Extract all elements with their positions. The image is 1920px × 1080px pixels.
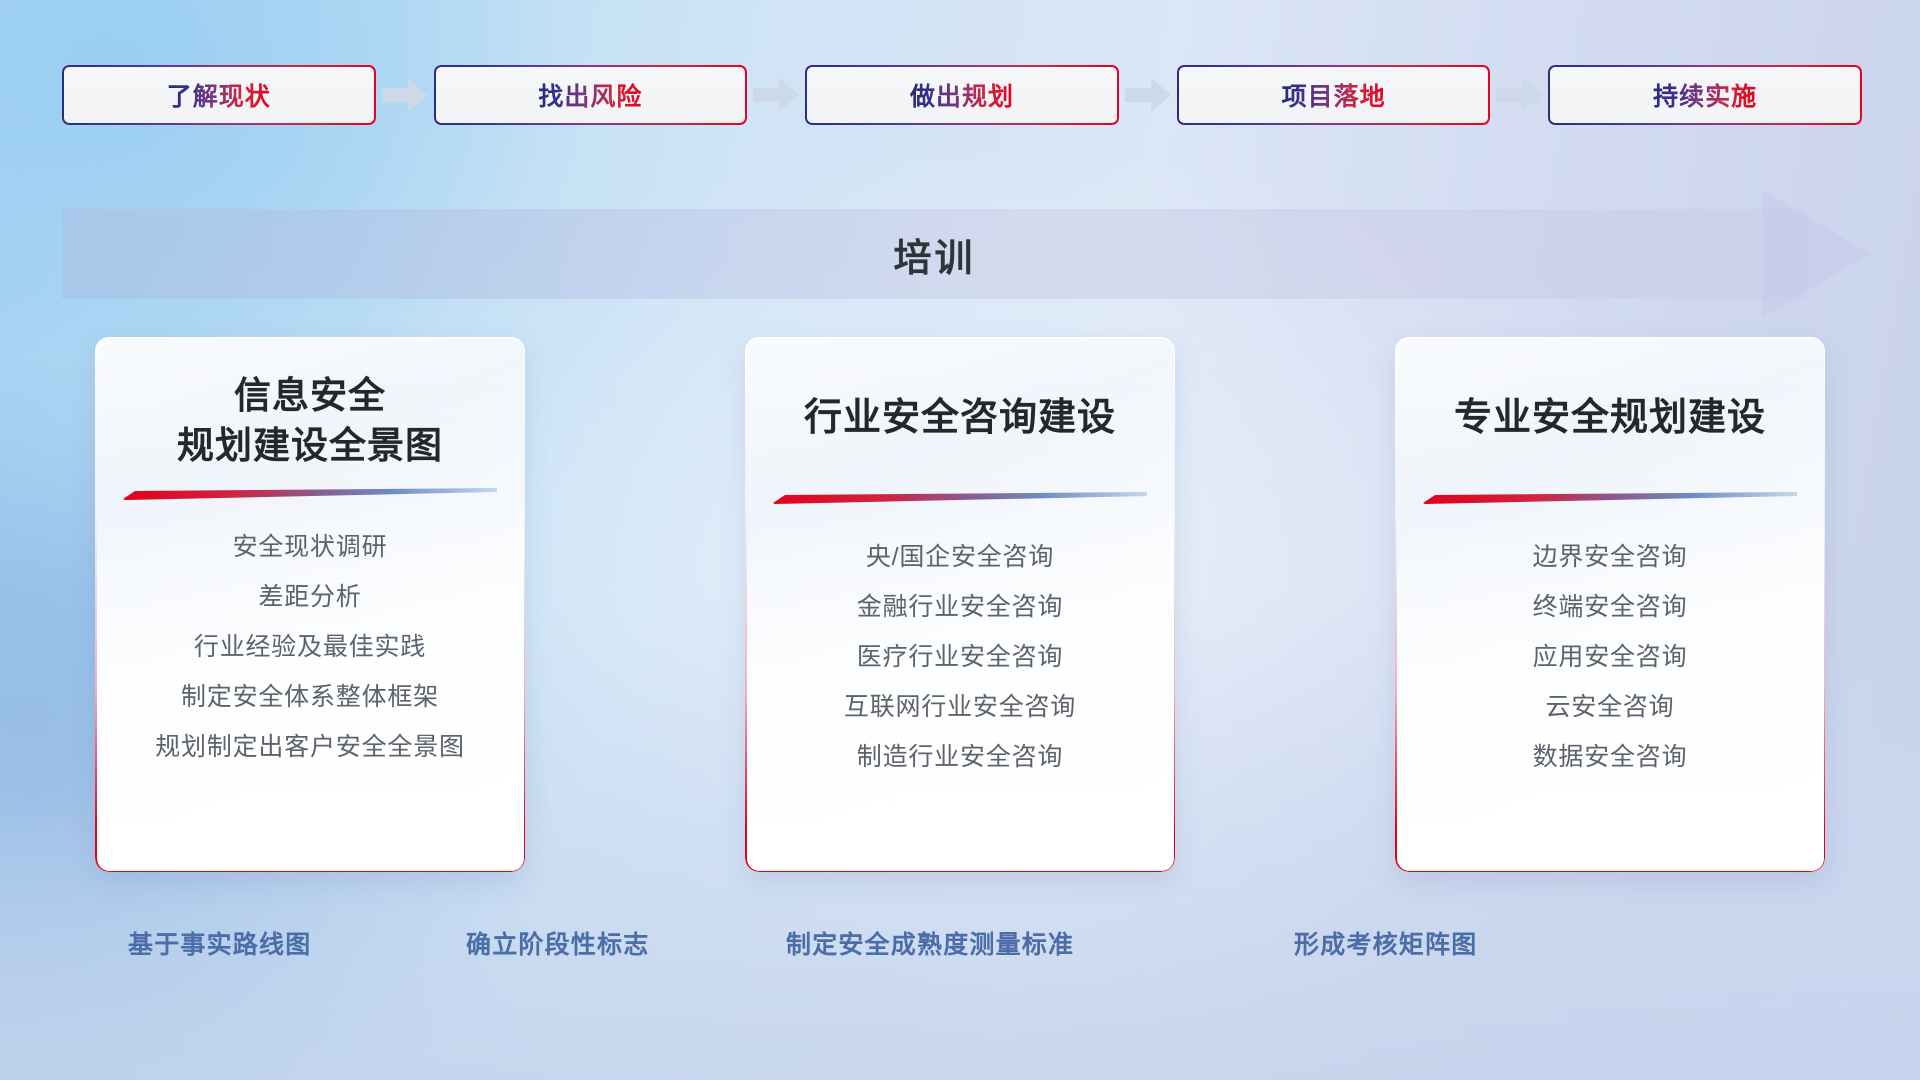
step-box-4[interactable]: 项目落地 [1177, 65, 1491, 125]
step-box-3[interactable]: 做出规划 [805, 65, 1119, 125]
step-box-2[interactable]: 找出风险 [434, 65, 748, 125]
step-box-1[interactable]: 了解现状 [62, 65, 376, 125]
step-box-5[interactable]: 持续实施 [1548, 65, 1862, 125]
list-item: 安全现状调研 [233, 522, 388, 572]
list-item: 央/国企安全咨询 [866, 532, 1054, 582]
list-item: 制定安全体系整体框架 [181, 672, 439, 722]
list-item: 边界安全咨询 [1533, 532, 1688, 582]
card-divider-3 [1423, 492, 1797, 504]
arrow-right-icon [1490, 75, 1548, 115]
step-label-3: 做出规划 [910, 77, 1014, 113]
card-item-list-2: 央/国企安全咨询 金融行业安全咨询 医疗行业安全咨询 互联网行业安全咨询 制造行… [844, 532, 1076, 782]
service-card-group: 信息安全 规划建设全景图 [95, 337, 1825, 872]
card-title-line: 信息安全 [177, 371, 443, 421]
list-item: 数据安全咨询 [1533, 732, 1688, 782]
list-item: 差距分析 [258, 572, 361, 622]
card-title-2: 行业安全咨询建设 [790, 393, 1130, 444]
arrow-right-icon [1119, 75, 1177, 115]
step-label-2: 找出风险 [538, 77, 642, 113]
card-divider-2 [773, 492, 1147, 504]
service-card-1[interactable]: 信息安全 规划建设全景图 [95, 337, 525, 872]
footer-label-2: 确立阶段性标志 [466, 925, 649, 961]
card-title-line: 规划建设全景图 [177, 421, 443, 471]
card-title-1: 信息安全 规划建设全景图 [163, 371, 457, 470]
arrow-right-icon [376, 75, 434, 115]
card-title-3: 专业安全规划建设 [1440, 393, 1780, 444]
footer-label-row: 基于事实路线图 确立阶段性标志 制定安全成熟度测量标准 形成考核矩阵图 [0, 925, 1920, 971]
footer-label-1: 基于事实路线图 [128, 925, 311, 961]
card-divider-1 [123, 488, 497, 500]
list-item: 应用安全咨询 [1533, 632, 1688, 682]
card-title-line: 专业安全规划建设 [1454, 393, 1766, 444]
training-banner: 培训 [62, 209, 1862, 299]
list-item: 医疗行业安全咨询 [857, 632, 1063, 682]
list-item: 云安全咨询 [1545, 682, 1674, 732]
list-item: 互联网行业安全咨询 [844, 682, 1076, 732]
list-item: 规划制定出客户安全全景图 [155, 722, 465, 772]
card-item-list-3: 边界安全咨询 终端安全咨询 应用安全咨询 云安全咨询 数据安全咨询 [1533, 532, 1688, 782]
list-item: 金融行业安全咨询 [857, 582, 1063, 632]
banner-title: 培训 [62, 209, 1807, 299]
step-label-1: 了解现状 [167, 77, 271, 113]
card-item-list-1: 安全现状调研 差距分析 行业经验及最佳实践 制定安全体系整体框架 规划制定出客户… [155, 522, 465, 772]
service-card-2[interactable]: 行业安全咨询建设 央/国 [745, 337, 1175, 872]
list-item: 行业经验及最佳实践 [194, 622, 426, 672]
step-label-5: 持续实施 [1653, 77, 1757, 113]
step-label-4: 项目落地 [1282, 77, 1386, 113]
process-step-flow: 了解现状 找出风险 做出规划 项目落地 持续实施 [62, 64, 1862, 126]
card-title-line: 行业安全咨询建设 [804, 393, 1116, 444]
list-item: 制造行业安全咨询 [857, 732, 1063, 782]
service-card-3[interactable]: 专业安全规划建设 边界安 [1395, 337, 1825, 872]
footer-label-4: 形成考核矩阵图 [1294, 925, 1477, 961]
footer-label-3: 制定安全成熟度测量标准 [786, 925, 1074, 961]
arrow-right-icon [747, 75, 805, 115]
list-item: 终端安全咨询 [1533, 582, 1688, 632]
